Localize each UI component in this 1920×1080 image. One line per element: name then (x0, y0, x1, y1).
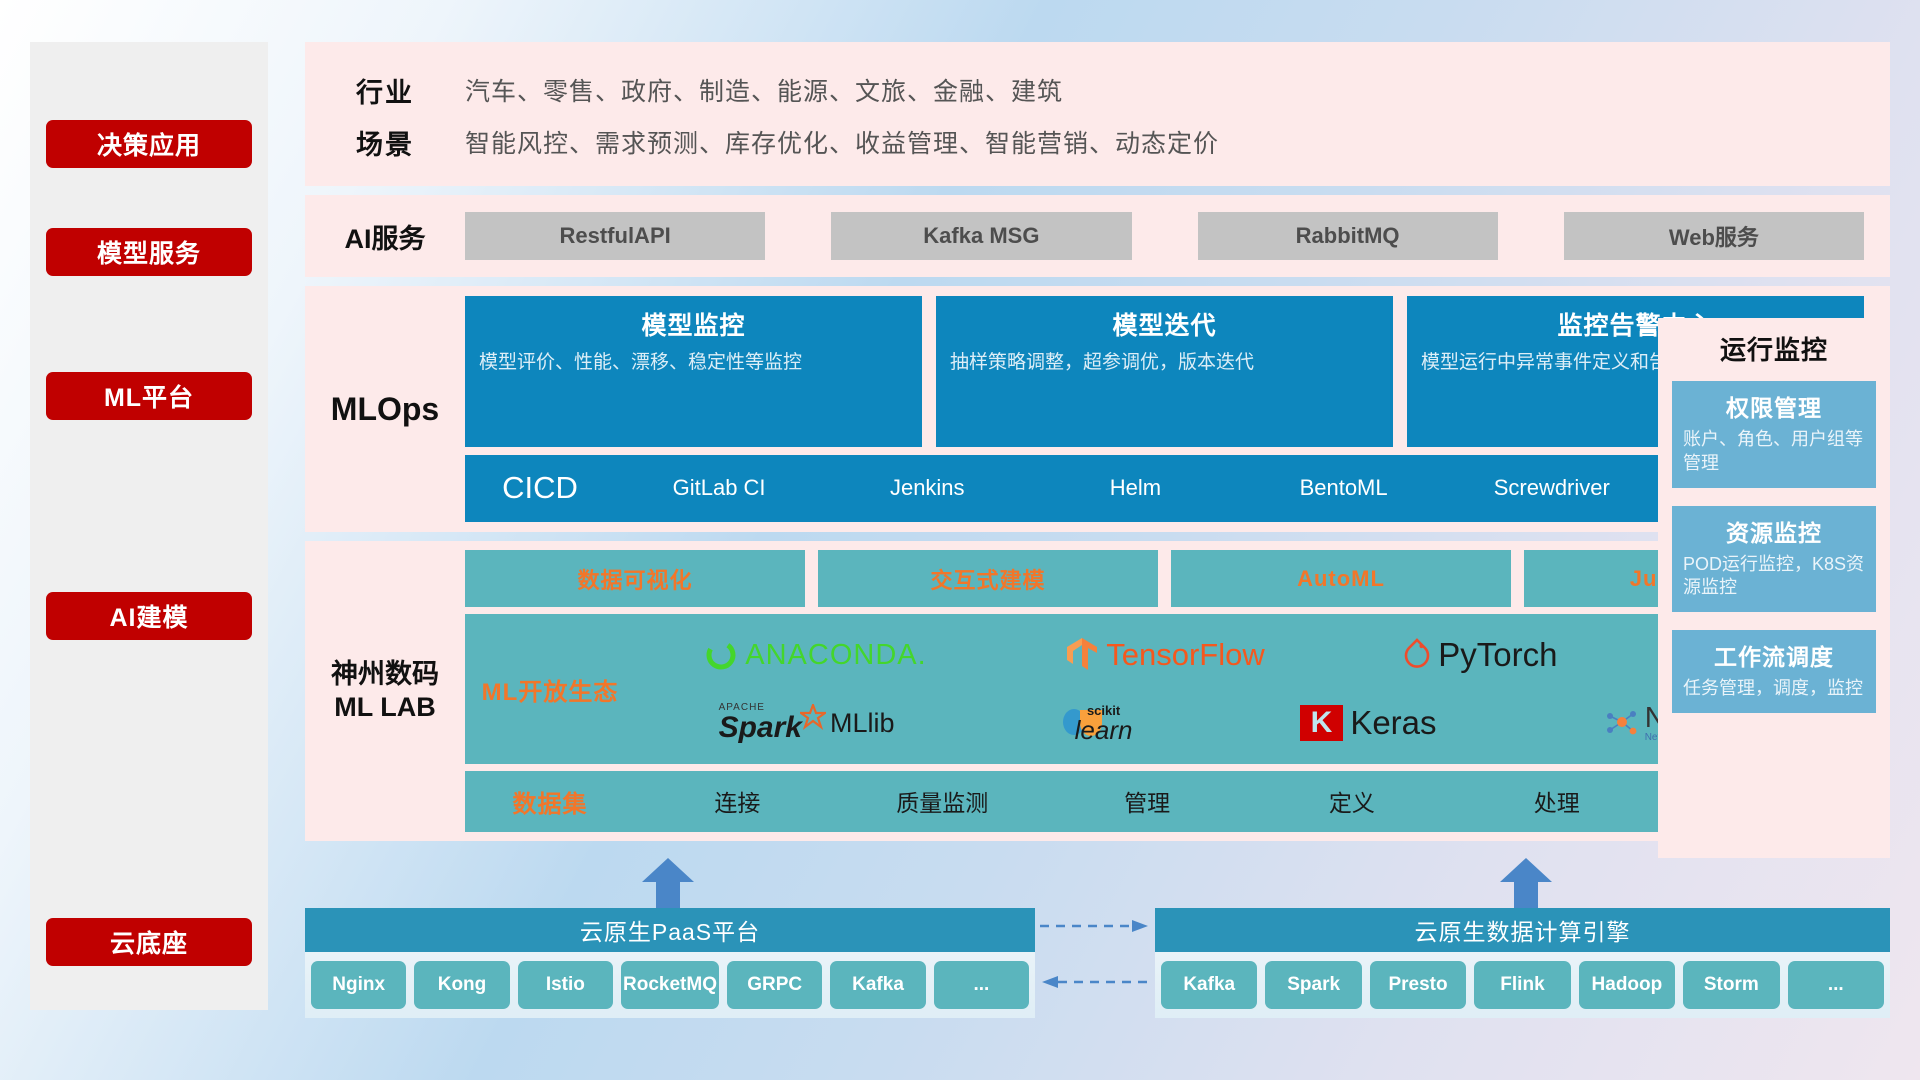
dataset-item-manage[interactable]: 管理 (1045, 784, 1250, 818)
paas-foundation-header: 云原生PaaS平台 (305, 908, 1035, 952)
card-title: 权限管理 (1683, 389, 1865, 423)
monitor-card-resource[interactable]: 资源监控 POD运行监控，K8S资源监控 (1672, 506, 1876, 613)
ai-service-chip-list: RestfulAPI Kafka MSG RabbitMQ Web服务 (465, 212, 1890, 260)
mlops-card-model-monitoring[interactable]: 模型监控 模型评价、性能、漂移、稳定性等监控 (465, 296, 922, 447)
spark-mark: APACHE Spark (719, 703, 802, 743)
cicd-item-gitlab-ci[interactable]: GitLab CI (615, 477, 823, 499)
tensorflow-icon (1065, 636, 1099, 674)
cicd-item-bentoml[interactable]: BentoML (1240, 477, 1448, 499)
card-title: 模型迭代 (950, 306, 1379, 342)
industry-scenario-band: 行业 汽车、零售、政府、制造、能源、文旅、金融、建筑 场景 智能风控、需求预测、… (305, 42, 1890, 186)
card-title: 资源监控 (1683, 514, 1865, 548)
paas-chip-more[interactable]: ... (934, 961, 1029, 1009)
engine-chip-hadoop[interactable]: Hadoop (1579, 961, 1675, 1009)
keras-wordmark: Keras (1350, 704, 1436, 742)
dataset-row: 数据集 连接 质量监测 管理 定义 处理 加载 (465, 771, 1864, 832)
ai-service-chip-restfulapi[interactable]: RestfulAPI (465, 212, 765, 260)
paas-chip-grpc[interactable]: GRPC (727, 961, 822, 1009)
architecture-main-column: 行业 汽车、零售、政府、制造、能源、文旅、金融、建筑 场景 智能风控、需求预测、… (305, 42, 1890, 850)
engine-chip-spark[interactable]: Spark (1265, 961, 1361, 1009)
mlops-label: MLOps (305, 286, 465, 532)
ml-tool-chip-list: 数据可视化 交互式建模 AutoML JupyterLab (465, 550, 1864, 607)
paas-chip-istio[interactable]: Istio (518, 961, 613, 1009)
learn-text: learn (1075, 717, 1133, 743)
ml-lab-label-line2: ML LAB (334, 691, 436, 724)
rail-chip-ml-platform[interactable]: ML平台 (46, 372, 252, 420)
paas-chip-kafka[interactable]: Kafka (830, 961, 925, 1009)
paas-chip-nginx[interactable]: Nginx (311, 961, 406, 1009)
data-engine-foundation-block: 云原生数据计算引擎 Kafka Spark Presto Flink Hadoo… (1155, 908, 1890, 1018)
ml-lab-label-line1: 神州数码 (331, 658, 439, 691)
keras-logo: K Keras (1300, 704, 1437, 742)
mlops-card-model-iteration[interactable]: 模型迭代 抽样策略调整，超参调优，版本迭代 (936, 296, 1393, 447)
paas-chip-list: Nginx Kong Istio RocketMQ GRPC Kafka ... (305, 952, 1035, 1018)
dataset-item-define[interactable]: 定义 (1249, 784, 1454, 818)
anaconda-logo: ANACONDA. (704, 638, 926, 672)
anaconda-wordmark: ANACONDA. (745, 639, 926, 672)
cicd-bar: CICD GitLab CI Jenkins Helm BentoML Scre… (465, 455, 1864, 522)
card-desc: 抽样策略调整，超参调优，版本迭代 (950, 350, 1379, 376)
left-layer-rail: 决策应用 模型服务 ML平台 AI建模 云底座 (30, 42, 268, 1010)
cicd-item-jenkins[interactable]: Jenkins (823, 477, 1031, 499)
card-title: 工作流调度 (1683, 638, 1865, 672)
rail-chip-decision[interactable]: 决策应用 (46, 120, 252, 168)
engine-chip-more[interactable]: ... (1788, 961, 1884, 1009)
tensorflow-logo: TensorFlow (1065, 636, 1265, 674)
industry-values: 汽车、零售、政府、制造、能源、文旅、金融、建筑 (465, 72, 1063, 108)
cicd-item-screwdriver[interactable]: Screwdriver (1448, 477, 1656, 499)
industry-row: 行业 汽车、零售、政府、制造、能源、文旅、金融、建筑 (305, 64, 1890, 116)
paas-chip-rocketmq[interactable]: RocketMQ (621, 961, 719, 1009)
scenario-label: 场景 (305, 123, 465, 162)
dataset-item-connect[interactable]: 连接 (635, 784, 840, 818)
card-desc: 任务管理，调度，监控 (1683, 677, 1865, 701)
paas-foundation-block: 云原生PaaS平台 Nginx Kong Istio RocketMQ GRPC… (305, 908, 1035, 1018)
data-engine-chip-list: Kafka Spark Presto Flink Hadoop Storm ..… (1155, 952, 1890, 1018)
up-arrow-data-engine-icon (1500, 858, 1552, 908)
spark-star-icon (800, 704, 826, 730)
rail-chip-ai-modeling[interactable]: AI建模 (46, 592, 252, 640)
up-arrow-paas-icon (642, 858, 694, 908)
engine-chip-kafka[interactable]: Kafka (1161, 961, 1257, 1009)
ai-service-chip-web[interactable]: Web服务 (1564, 212, 1864, 260)
ml-lab-band: 神州数码 ML LAB 数据可视化 交互式建模 AutoML JupyterLa… (305, 541, 1890, 841)
spark-wordmark: Spark (719, 713, 802, 743)
card-title: 模型监控 (479, 306, 908, 342)
pytorch-wordmark: PyTorch (1438, 636, 1557, 674)
pytorch-icon (1403, 638, 1431, 672)
ml-ecosystem-label: ML开放生态 (465, 672, 635, 707)
tool-chip-interactive-modeling[interactable]: 交互式建模 (818, 550, 1158, 607)
keras-icon: K (1300, 705, 1344, 741)
mlops-band: MLOps 模型监控 模型评价、性能、漂移、稳定性等监控 模型迭代 抽样策略调整… (305, 286, 1890, 532)
scikit-learn-logo: scikit learn (1062, 704, 1133, 743)
dashed-arrow-right-icon (1040, 919, 1150, 938)
ai-service-chip-kafka-msg[interactable]: Kafka MSG (831, 212, 1131, 260)
ai-service-chip-rabbitmq[interactable]: RabbitMQ (1198, 212, 1498, 260)
dashed-arrow-left-icon (1040, 975, 1150, 994)
monitor-card-workflow[interactable]: 工作流调度 任务管理，调度，监控 (1672, 630, 1876, 713)
monitor-card-permission[interactable]: 权限管理 账户、角色、用户组等管理 (1672, 381, 1876, 488)
card-desc: 模型评价、性能、漂移、稳定性等监控 (479, 350, 908, 376)
scenario-values: 智能风控、需求预测、库存优化、收益管理、智能营销、动态定价 (465, 124, 1219, 160)
pytorch-logo: PyTorch (1403, 636, 1557, 674)
mlops-card-list: 模型监控 模型评价、性能、漂移、稳定性等监控 模型迭代 抽样策略调整，超参调优，… (465, 296, 1864, 447)
spark-mllib-logo: APACHE Spark MLlib (719, 703, 895, 743)
ml-ecosystem-row: ML开放生态 ANACONDA. (465, 614, 1864, 764)
rail-chip-model-serve[interactable]: 模型服务 (46, 228, 252, 276)
engine-chip-flink[interactable]: Flink (1474, 961, 1570, 1009)
rail-chip-cloud-base[interactable]: 云底座 (46, 918, 252, 966)
scikit-learn-wordmark: scikit learn (1075, 704, 1133, 743)
paas-chip-kong[interactable]: Kong (414, 961, 509, 1009)
dataset-label: 数据集 (465, 784, 635, 819)
runtime-monitor-title: 运行监控 (1672, 330, 1876, 367)
dataset-item-process[interactable]: 处理 (1454, 784, 1659, 818)
anaconda-icon (704, 638, 738, 672)
scenario-row: 场景 智能风控、需求预测、库存优化、收益管理、智能营销、动态定价 (305, 116, 1890, 168)
ai-service-band: AI服务 RestfulAPI Kafka MSG RabbitMQ Web服务 (305, 195, 1890, 277)
cicd-item-helm[interactable]: Helm (1031, 477, 1239, 499)
tool-chip-automl[interactable]: AutoML (1171, 550, 1511, 607)
industry-label: 行业 (305, 71, 465, 110)
card-desc: POD运行监控，K8S资源监控 (1683, 553, 1865, 601)
tensorflow-wordmark: TensorFlow (1106, 637, 1265, 673)
mllib-wordmark: MLlib (830, 708, 895, 739)
data-engine-foundation-header: 云原生数据计算引擎 (1155, 908, 1890, 952)
cicd-label: CICD (465, 470, 615, 506)
engine-chip-storm[interactable]: Storm (1683, 961, 1779, 1009)
runtime-monitor-panel: 运行监控 权限管理 账户、角色、用户组等管理 资源监控 POD运行监控，K8S资… (1658, 318, 1890, 858)
ml-lab-label: 神州数码 ML LAB (305, 541, 465, 841)
card-desc: 账户、角色、用户组等管理 (1683, 428, 1865, 476)
tool-chip-data-visualization[interactable]: 数据可视化 (465, 550, 805, 607)
dataset-item-quality[interactable]: 质量监测 (840, 784, 1045, 818)
networkx-icon (1604, 707, 1638, 739)
engine-chip-presto[interactable]: Presto (1370, 961, 1466, 1009)
ai-service-label: AI服务 (305, 217, 465, 256)
